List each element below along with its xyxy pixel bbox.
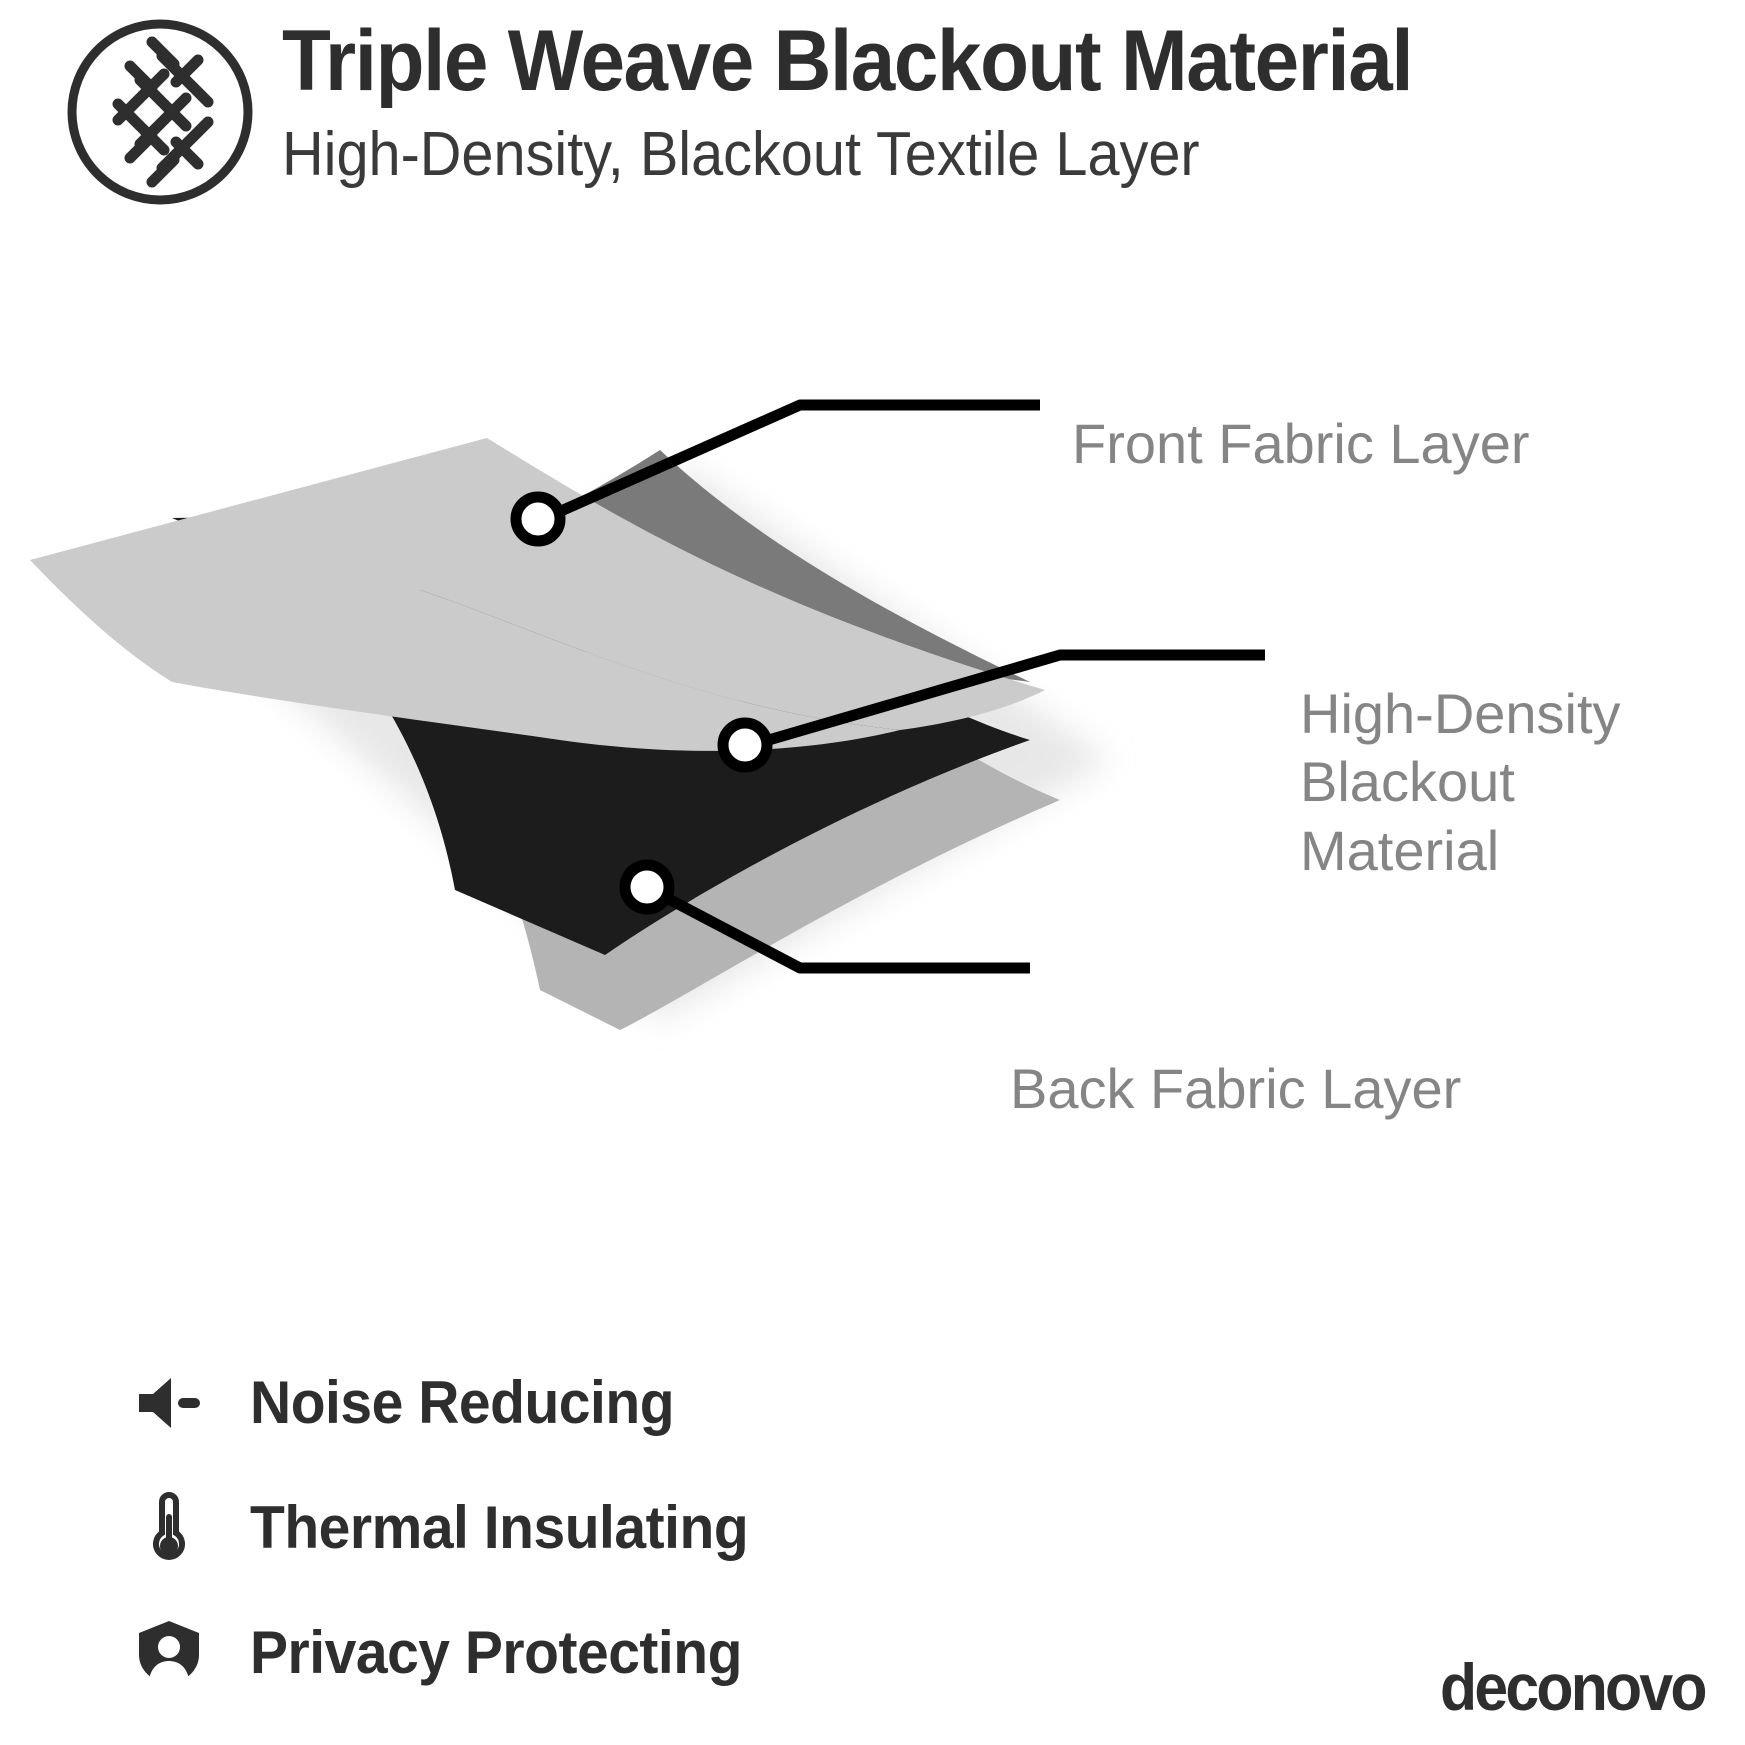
header-text-block: Triple Weave Blackout Material High-Dens… — [282, 8, 1497, 194]
header: Triple Weave Blackout Material High-Dens… — [60, 8, 1497, 212]
callout-label-front-fabric-layer: Front Fabric Layer — [1072, 410, 1530, 478]
woven-textile-circle-icon — [60, 12, 260, 212]
page-title: Triple Weave Blackout Material — [282, 18, 1412, 104]
page-subtitle: High-Density, Blackout Textile Layer — [282, 116, 1412, 194]
callout-label-high-density-blackout-material: High-Density Blackout Material — [1300, 680, 1621, 885]
brand-wordmark-deconovo: deconovo — [1440, 1649, 1705, 1725]
feature-label-thermal-insulating: Thermal Insulating — [250, 1493, 748, 1562]
callout-dot-front — [516, 497, 560, 541]
feature-row-noise-reducing: Noise Reducing — [130, 1340, 774, 1465]
feature-list: Noise Reducing Thermal Insulating Privac… — [130, 1340, 774, 1715]
speaker-volume-down-icon — [130, 1367, 208, 1439]
callout-label-back-fabric-layer: Back Fabric Layer — [1010, 1055, 1461, 1123]
callout-dot-middle — [723, 723, 767, 767]
feature-row-privacy-protecting: Privacy Protecting — [130, 1590, 774, 1715]
callout-dot-back — [625, 865, 669, 909]
feature-row-thermal-insulating: Thermal Insulating — [130, 1465, 774, 1590]
shield-person-icon — [130, 1617, 208, 1689]
thermometer-icon — [130, 1492, 208, 1564]
feature-label-noise-reducing: Noise Reducing — [250, 1368, 674, 1437]
feature-label-privacy-protecting: Privacy Protecting — [250, 1618, 742, 1687]
